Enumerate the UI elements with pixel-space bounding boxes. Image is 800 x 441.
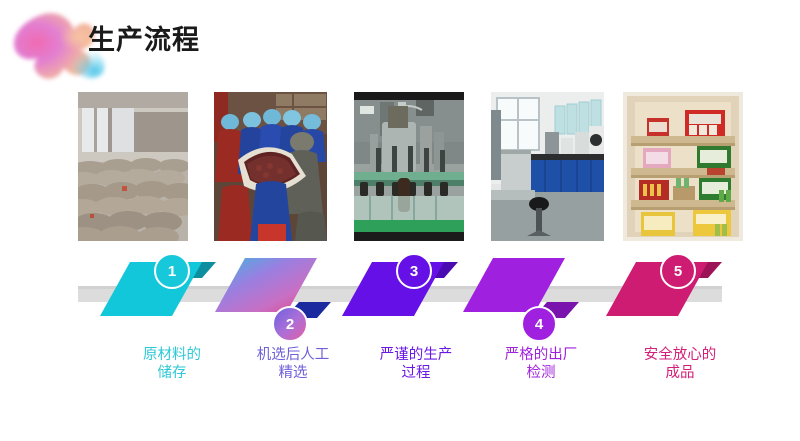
photo-row	[0, 92, 800, 242]
step-4-label-line2: 检测	[461, 364, 621, 382]
step-3-number-badge: 3	[396, 253, 432, 289]
slide-root: 生产流程	[0, 0, 800, 441]
step-3-number: 3	[410, 263, 418, 280]
step-1-number-badge: 1	[154, 253, 190, 289]
step-5-label-line2: 成品	[600, 364, 760, 382]
photo-raw-material-warehouse	[78, 92, 188, 241]
photo-finished-products	[623, 92, 743, 241]
step-2-number-badge: 2	[272, 306, 308, 342]
step-4-number: 4	[535, 316, 543, 333]
step-4-label-line1: 严格的出厂	[461, 346, 621, 364]
step-5-label-line1: 安全放心的	[600, 346, 760, 364]
process-timeline: 1 原材料的 储存	[0, 248, 800, 398]
photo-manual-sorting	[214, 92, 327, 241]
timeline-step-5[interactable]: 5 安全放心的 成品	[600, 248, 760, 398]
step-4-label: 严格的出厂 检测	[461, 346, 621, 382]
step-2-number: 2	[286, 316, 294, 333]
step-5-label: 安全放心的 成品	[600, 346, 760, 382]
page-title: 生产流程	[88, 27, 200, 54]
step-5-number: 5	[674, 263, 682, 280]
step-1-number: 1	[168, 263, 176, 280]
step-4-number-badge: 4	[521, 306, 557, 342]
step-5-number-badge: 5	[660, 253, 696, 289]
photo-production-line	[354, 92, 464, 241]
timeline-step-4[interactable]: 4 严格的出厂 检测	[461, 248, 621, 398]
photo-quality-lab	[491, 92, 604, 241]
